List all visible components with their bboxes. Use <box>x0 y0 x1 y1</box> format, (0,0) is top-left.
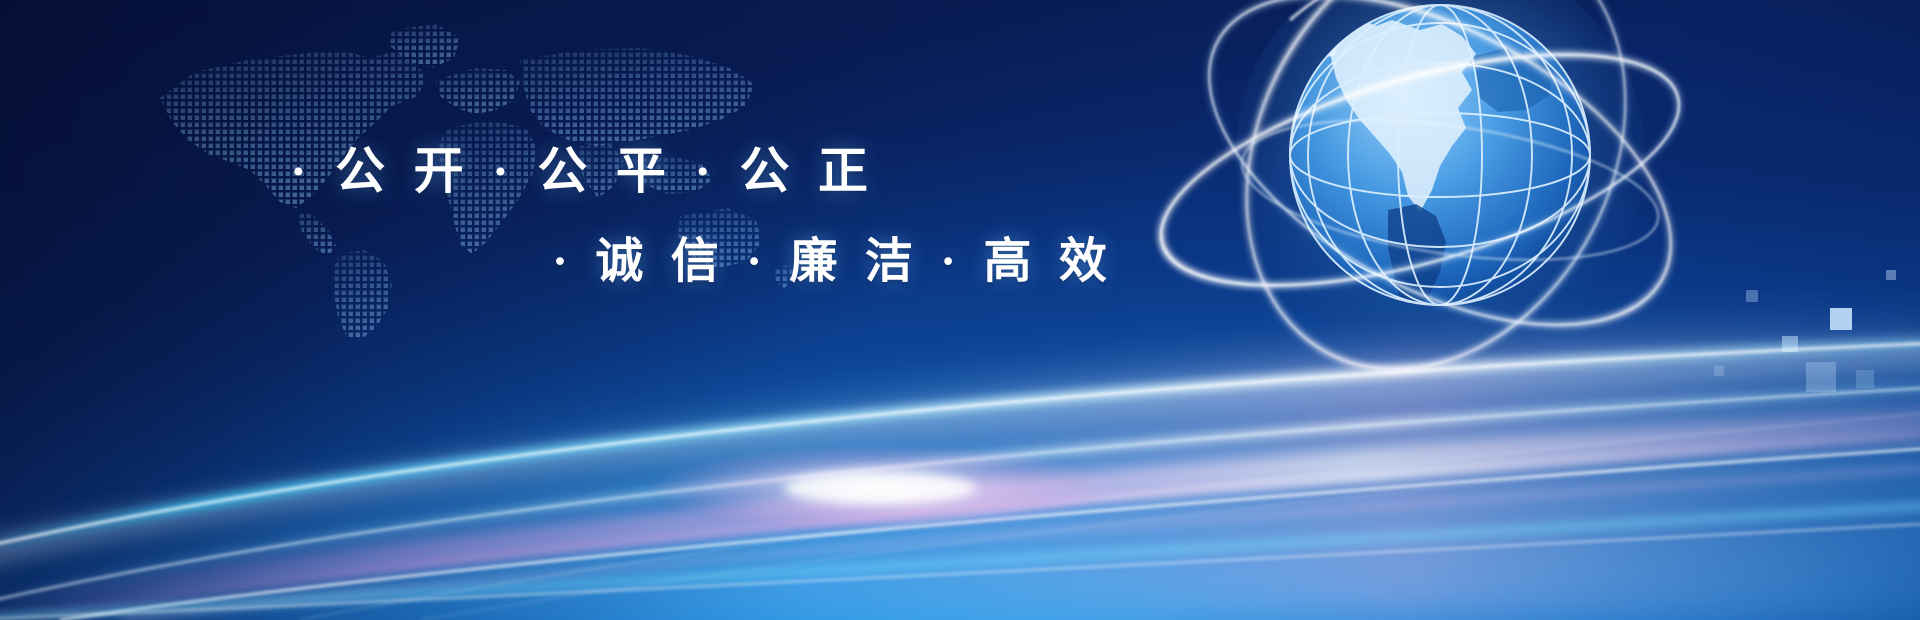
banner-root: · 公 开 · 公 平 · 公 正 · 诚 信 · 廉 洁 · 高 效 <box>0 0 1920 620</box>
light-wave-decoration <box>0 290 1920 620</box>
